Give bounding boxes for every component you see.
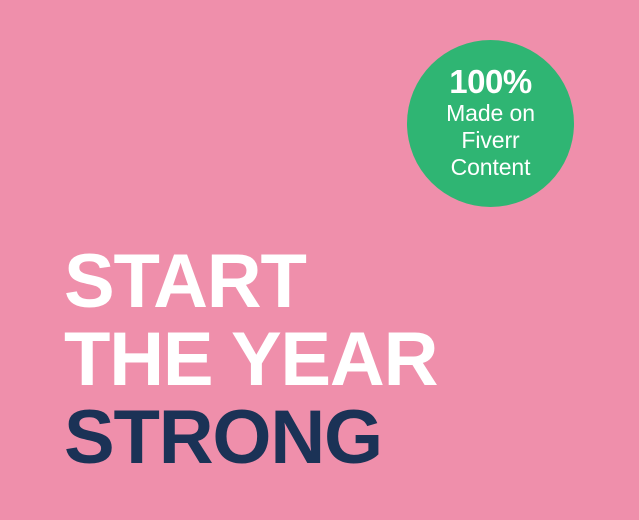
headline-line-1: START [64,243,604,321]
made-on-fiverr-badge: 100% Made on Fiverr Content [407,40,574,207]
headline-line-3: STRONG [64,399,604,477]
headline-block: START THE YEAR STRONG [64,243,604,477]
badge-line-1: Made on [446,100,535,127]
promo-poster: 100% Made on Fiverr Content START THE YE… [0,0,639,520]
badge-line-2: Fiverr [461,127,519,154]
badge-line-3: Content [451,154,531,181]
badge-percent-value: 100% [449,65,531,99]
headline-line-2: THE YEAR [64,321,604,399]
